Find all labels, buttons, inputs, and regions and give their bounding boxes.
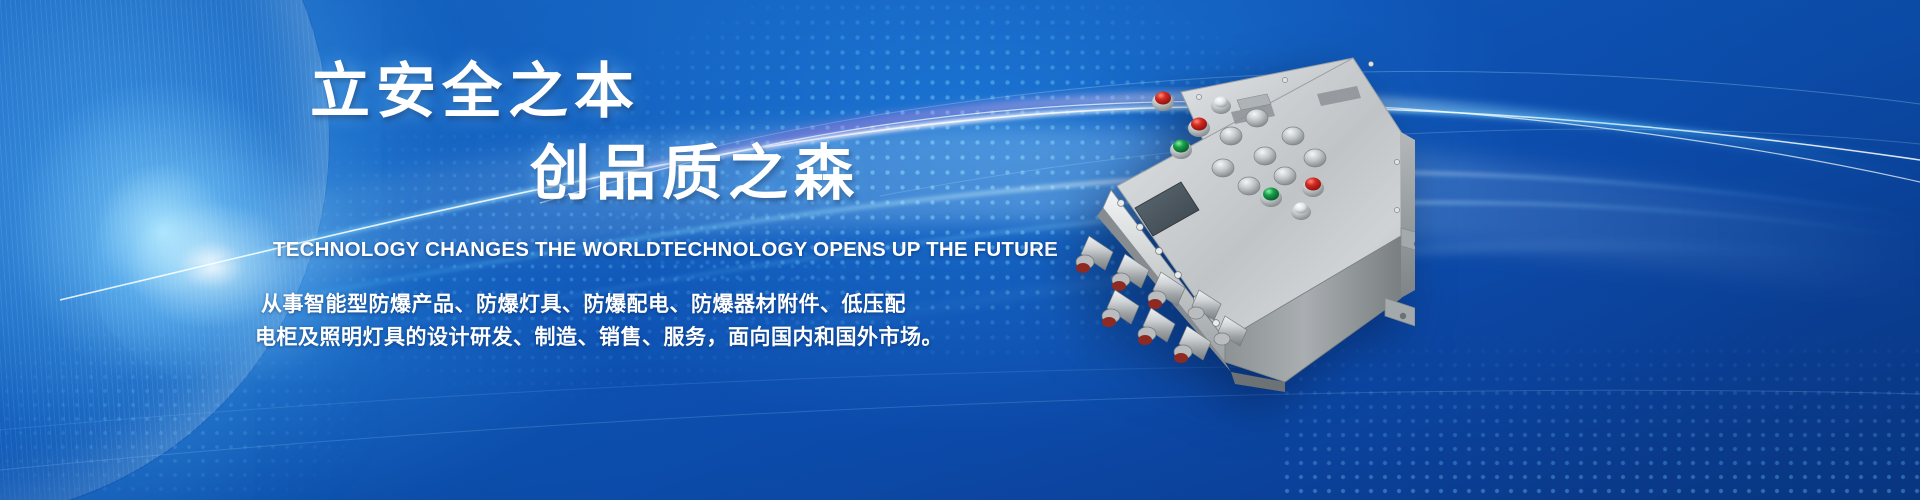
description-line-2: 电柜及照明灯具的设计研发、制造、销售、服务，面向国内和国外市场。 bbox=[255, 321, 915, 354]
selector-knob-6 bbox=[1238, 177, 1260, 195]
product-image-explosion-proof-control-box bbox=[985, 40, 1415, 400]
headline-line-2: 创品质之森 bbox=[530, 144, 915, 204]
selector-knob-4 bbox=[1282, 127, 1304, 145]
english-tagline: TECHNOLOGY CHANGES THE WORLDTECHNOLOGY O… bbox=[273, 238, 915, 262]
hero-banner: 立安全之本 创品质之森 TECHNOLOGY CHANGES THE WORLD… bbox=[0, 0, 1920, 500]
bracket-hole-bottom bbox=[1400, 313, 1406, 319]
headline-line-1: 立安全之本 bbox=[310, 62, 915, 122]
cable-gland-4 bbox=[1102, 290, 1139, 327]
selector-knob-3 bbox=[1254, 147, 1276, 165]
description-line-1: 从事智能型防爆产品、防爆灯具、防爆配电、防爆器材附件、低压配 bbox=[261, 288, 915, 321]
banner-copy: 立安全之本 创品质之森 TECHNOLOGY CHANGES THE WORLD… bbox=[255, 62, 915, 354]
banner-description: 从事智能型防爆产品、防爆灯具、防爆配电、防爆器材附件、低压配 电柜及照明灯具的设… bbox=[261, 288, 915, 354]
selector-knob-7 bbox=[1274, 167, 1296, 185]
selector-knob-1 bbox=[1220, 127, 1242, 145]
mounting-bracket-bottom bbox=[1385, 298, 1415, 326]
indicator-lamp-red-1 bbox=[1152, 92, 1174, 112]
box-right-side bbox=[1401, 132, 1415, 298]
cable-gland-5 bbox=[1138, 308, 1175, 345]
selector-knob-8 bbox=[1304, 149, 1326, 167]
cable-gland-1 bbox=[1076, 236, 1113, 273]
selector-knob-5 bbox=[1212, 159, 1234, 177]
selector-knob-2 bbox=[1246, 109, 1268, 127]
